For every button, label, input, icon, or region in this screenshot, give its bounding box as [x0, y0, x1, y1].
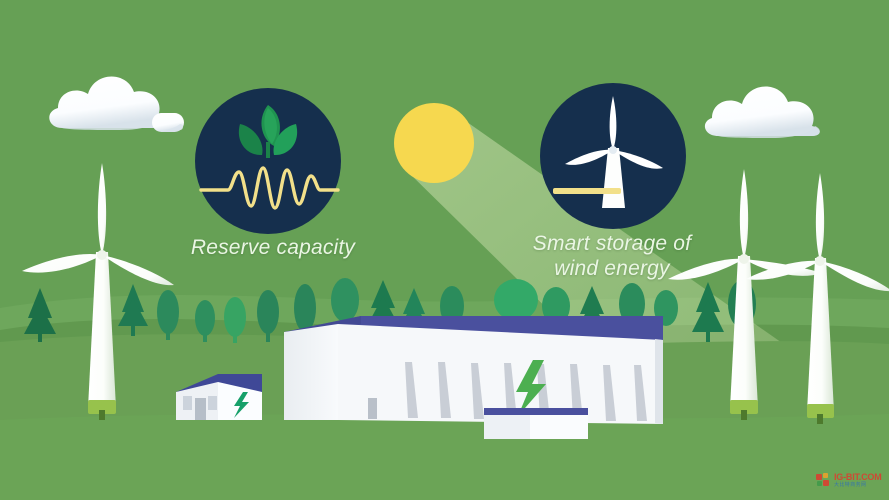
badge-label-smart-storage: Smart storage of wind energy [512, 231, 712, 281]
landscape-layer [0, 0, 889, 500]
badge-reserve-capacity[interactable] [195, 88, 341, 234]
warehouse-door [368, 398, 377, 419]
tree-oval [294, 284, 316, 332]
turbine-footing [99, 410, 105, 420]
annex-roof [484, 408, 588, 415]
warehouse-wall-left [284, 324, 338, 420]
sun [394, 103, 474, 183]
watermark-subtitle: 大比特商务网 [834, 483, 882, 488]
turbine-footing [817, 414, 823, 424]
turbine-hub [97, 250, 107, 260]
turbine-hub [739, 254, 749, 264]
battery-storage-warehouse [284, 316, 663, 424]
house-window [183, 396, 192, 410]
badge-label-reserve-capacity: Reserve capacity [178, 235, 368, 260]
site-watermark: IG-BIT.COM 大比特商务网 [816, 469, 884, 491]
watermark-title: IG-BIT.COM [834, 473, 882, 482]
ground-foreground [0, 414, 889, 500]
tree-oval [257, 290, 279, 334]
turbine-hub [815, 256, 825, 266]
house-door [195, 398, 206, 420]
turbine-footing [741, 410, 747, 420]
tree-oval [195, 300, 215, 336]
annex-wall-right [530, 415, 588, 439]
tree-oval-light [224, 297, 246, 337]
badge-ground-bar [553, 188, 621, 194]
house-window [208, 396, 217, 410]
watermark-logo-icon [816, 473, 831, 488]
illustration-scene: Reserve capacity Smart storage of wind e… [0, 0, 889, 500]
tree-oval [157, 290, 179, 334]
cloud-small-left [152, 113, 184, 132]
badge-smart-storage[interactable] [540, 83, 686, 229]
warehouse-annex [484, 408, 588, 439]
tree-round-light [494, 279, 538, 321]
tree-oval [331, 278, 359, 322]
